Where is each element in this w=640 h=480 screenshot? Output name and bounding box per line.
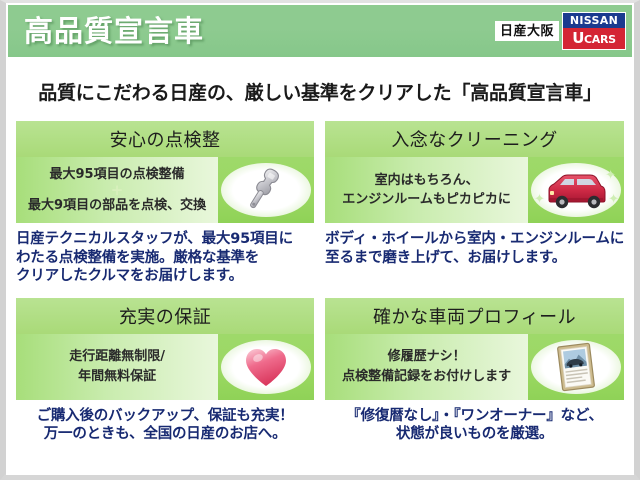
header-band: 高品質宣言車 日産大阪 NISSAN UCARS [8, 5, 632, 57]
panel-cleaning-line-1: 室内はもちろん、 [375, 171, 479, 191]
dealer-name-badge: 日産大阪 [495, 21, 559, 41]
panel-profile-icon-area [528, 334, 624, 400]
panel-warranty-body: 走行距離無制限/ 年間無料保証 [16, 334, 314, 400]
panel-inspection-description: 日産テクニカルスタッフが、最大95項目に わたる点検整備を実施。厳格な基準を ク… [16, 230, 314, 286]
panel-profile-body: 修履歴ナシ！ 点検整備記録をお付けします [325, 334, 624, 400]
sparkle-icon: ✦ [534, 193, 545, 206]
desc-line: 日産テクニカルスタッフが、最大95項目に [16, 230, 314, 249]
wrench-icon [239, 165, 293, 215]
car-icon [541, 169, 611, 211]
record-book-icon [554, 341, 598, 393]
nissan-ucars-logo: NISSAN UCARS [562, 12, 626, 50]
main-headline: 品質にこだわる日産の、厳しい基準をクリアした「高品質宣言車」 [6, 78, 634, 105]
panel-warranty-icon-area [218, 334, 314, 400]
panel-cleaning: 入念なクリーニング 室内はもちろん、 エンジンルームもピカピカに ✦ ✦ ✦ [325, 121, 624, 286]
panel-warranty: 充実の保証 走行距離無制限/ 年間無料保証 [16, 298, 314, 444]
panel-profile-line-1: 修履歴ナシ！ [388, 347, 466, 367]
panel-warranty-description: ご購入後のバックアップ、保証も充実！ 万一のときも、全国の日産のお店へ。 [16, 407, 314, 444]
heart-icon [242, 345, 290, 389]
page-frame: 高品質宣言車 日産大阪 NISSAN UCARS 品質にこだわる日産の、厳しい基… [0, 0, 640, 480]
panel-inspection-body: 最大95項目の点検整備 + 最大9項目の部品を点検、交換 [16, 157, 314, 223]
page-title: 高品質宣言車 [24, 17, 204, 46]
panel-profile: 確かな車両プロフィール 修履歴ナシ！ 点検整備記録をお付けします [325, 298, 624, 444]
desc-line: 万一のときも、全国の日産のお店へ。 [16, 425, 314, 444]
desc-line: クリアしたクルマをお届けします。 [16, 267, 314, 286]
panel-inspection-icon-area [218, 157, 314, 223]
panel-cleaning-body: 室内はもちろん、 エンジンルームもピカピカに ✦ ✦ ✦ [325, 157, 624, 223]
desc-line: 『修復暦なし』・『ワンオーナー』など、 [325, 407, 624, 426]
ucars-cars: CARS [584, 33, 616, 46]
panel-profile-line-2: 点検整備記録をお付けします [342, 367, 511, 387]
panel-warranty-line-1: 走行距離無制限/ [69, 347, 165, 367]
nissan-wordmark: NISSAN [563, 13, 625, 28]
panel-inspection-line-2: 最大9項目の部品を点検、交換 [28, 196, 206, 216]
panel-cleaning-line-2: エンジンルームもピカピカに [342, 190, 511, 210]
panel-profile-description: 『修復暦なし』・『ワンオーナー』など、 状態が良いものを厳選。 [325, 407, 624, 444]
sparkle-icon: ✦ [605, 169, 616, 182]
panel-cleaning-title: 入念なクリーニング [325, 121, 624, 157]
panel-cleaning-lines: 室内はもちろん、 エンジンルームもピカピカに [325, 157, 528, 223]
panel-inspection-title: 安心の点検整 [16, 121, 314, 157]
desc-line: ボディ・ホイールから室内・エンジンルームに [325, 230, 624, 249]
ucars-wordmark: UCARS [563, 28, 625, 49]
desc-line: ご購入後のバックアップ、保証も充実！ [16, 407, 314, 426]
panel-warranty-lines: 走行距離無制限/ 年間無料保証 [16, 334, 218, 400]
ucars-u: U [572, 29, 584, 47]
sparkle-icon: ✦ [608, 193, 619, 206]
feature-grid: 安心の点検整 最大95項目の点検整備 + 最大9項目の部品を点検、交換 [6, 121, 634, 444]
desc-line: わたる点検整備を実施。厳格な基準を [16, 249, 314, 268]
panel-inspection-plus: + [111, 186, 124, 195]
header-branding: 日産大阪 NISSAN UCARS [495, 12, 626, 50]
panel-cleaning-icon-area: ✦ ✦ ✦ [528, 157, 624, 223]
panel-inspection: 安心の点検整 最大95項目の点検整備 + 最大9項目の部品を点検、交換 [16, 121, 314, 286]
panel-cleaning-description: ボディ・ホイールから室内・エンジンルームに 至るまで磨き上げて、お届けします。 [325, 230, 624, 267]
panel-warranty-title: 充実の保証 [16, 298, 314, 334]
page-content: 高品質宣言車 日産大阪 NISSAN UCARS 品質にこだわる日産の、厳しい基… [6, 5, 634, 475]
desc-line: 至るまで磨き上げて、お届けします。 [325, 249, 624, 268]
panel-profile-title: 確かな車両プロフィール [325, 298, 624, 334]
panel-profile-lines: 修履歴ナシ！ 点検整備記録をお付けします [325, 334, 528, 400]
desc-line: 状態が良いものを厳選。 [325, 425, 624, 444]
panel-inspection-lines: 最大95項目の点検整備 + 最大9項目の部品を点検、交換 [16, 157, 218, 223]
panel-warranty-line-2: 年間無料保証 [78, 367, 156, 387]
